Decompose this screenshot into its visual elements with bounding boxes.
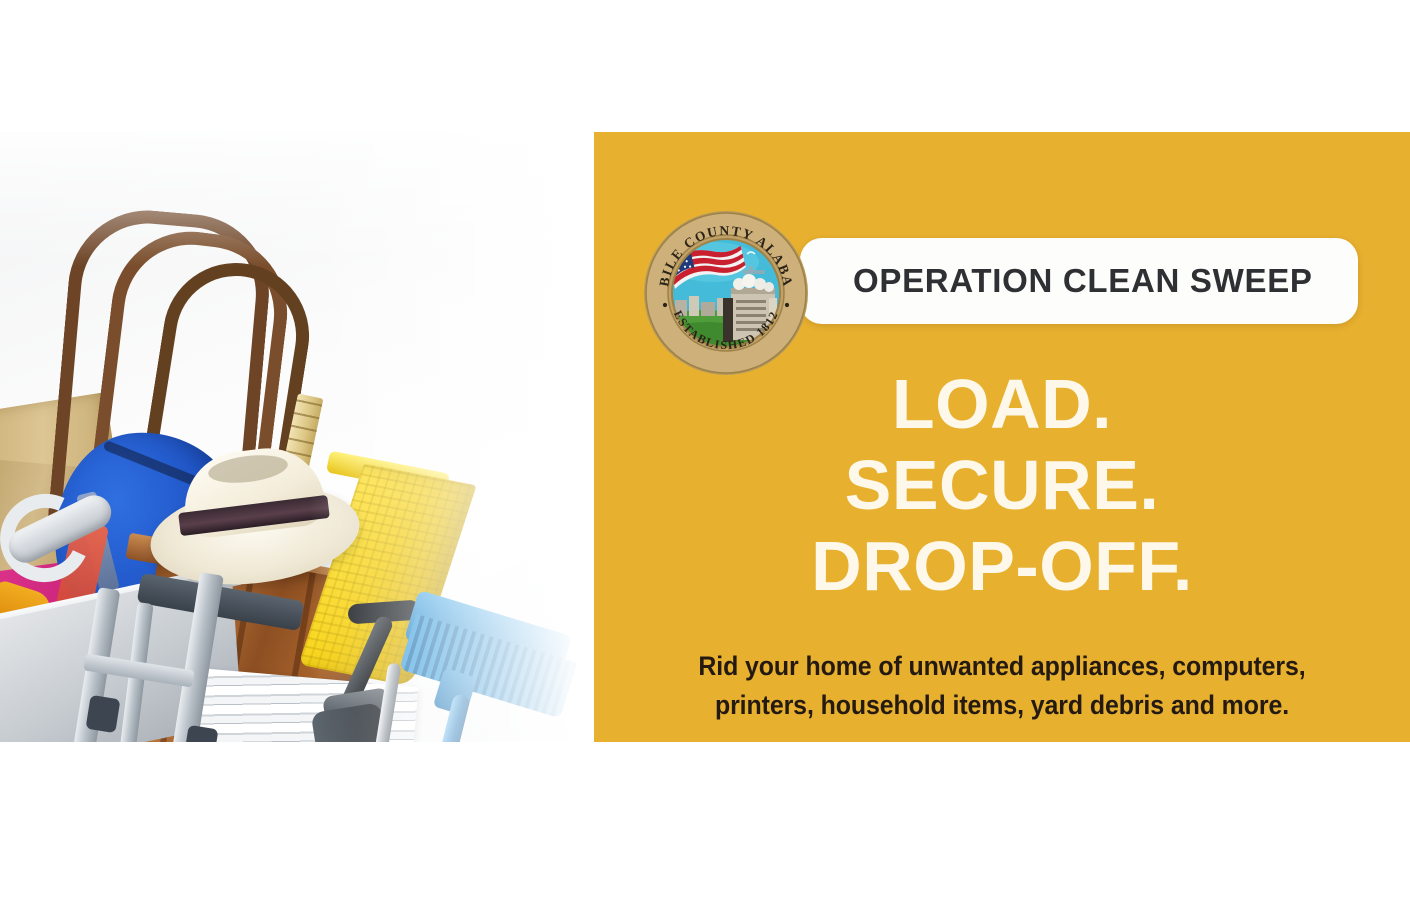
ladder-foot-icon	[86, 695, 121, 733]
operation-clean-sweep-banner: MOBILE COUNTY ALABAMA ESTABLISHED 1812 O…	[0, 132, 1410, 742]
junk-pile-photo	[0, 132, 594, 742]
subtitle-line-1: Rid your home of unwanted appliances, co…	[618, 647, 1385, 686]
subtitle-line-2: printers, household items, yard debris a…	[618, 686, 1385, 725]
headline: LOAD. SECURE. DROP-OFF.	[594, 364, 1410, 608]
mobile-county-seal-icon: MOBILE COUNTY ALABAMA ESTABLISHED 1812	[643, 210, 809, 376]
headline-line-3: DROP-OFF.	[594, 526, 1410, 607]
operation-clean-sweep-badge: OPERATION CLEAN SWEEP	[800, 238, 1358, 324]
headline-line-2: SECURE.	[594, 445, 1410, 526]
badge-label: OPERATION CLEAN SWEEP	[800, 262, 1313, 300]
yellow-content-panel: MOBILE COUNTY ALABAMA ESTABLISHED 1812 O…	[594, 132, 1410, 742]
subtitle: Rid your home of unwanted appliances, co…	[618, 647, 1385, 725]
headline-line-1: LOAD.	[594, 364, 1410, 445]
